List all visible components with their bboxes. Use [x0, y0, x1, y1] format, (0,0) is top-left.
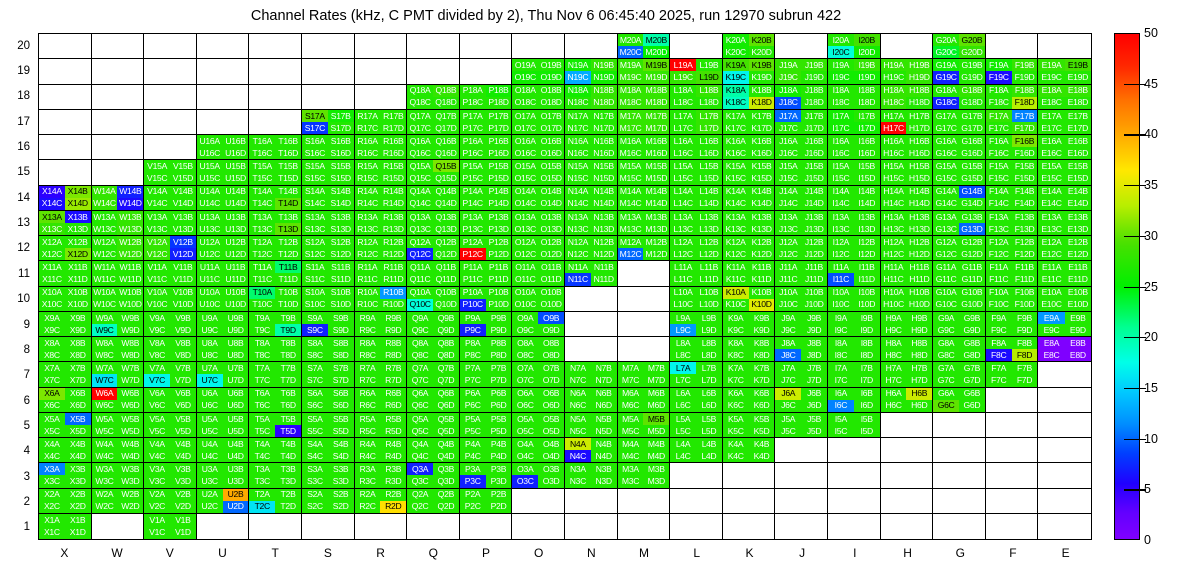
channel-label: E15A: [1042, 162, 1062, 171]
heatmap-module-cell: O16AO16BO16CO16D: [512, 135, 565, 160]
channel-label: W6D: [121, 401, 139, 410]
heatmap-channel-cell: W7B: [117, 362, 143, 374]
y-axis-label: 9: [24, 319, 30, 331]
heatmap-channel-cell: Q14C: [407, 198, 433, 210]
heatmap-module-cell: W4AW4BW4CW4D: [92, 438, 145, 463]
heatmap-channel-cell: I19B: [854, 59, 880, 71]
channel-label: L18C: [673, 98, 692, 107]
channel-label: Q17B: [436, 112, 457, 121]
channel-label: L9A: [676, 314, 690, 323]
channel-label: R6D: [385, 401, 401, 410]
heatmap-channel-cell: I6A: [828, 388, 854, 400]
channel-label: T4C: [255, 452, 270, 461]
heatmap-channel-cell: V6C: [144, 400, 170, 412]
heatmap-channel-cell: I14D: [854, 198, 880, 210]
channel-label: R13C: [357, 225, 378, 234]
heatmap-channel-cell: W14D: [117, 198, 143, 210]
heatmap-channel-cell: N12D: [591, 248, 617, 260]
channel-label: G17A: [936, 112, 957, 121]
channel-label: U5C: [202, 427, 218, 436]
channel-label: G11A: [936, 263, 956, 272]
channel-label: T5A: [255, 415, 270, 424]
channel-label: R9C: [359, 326, 375, 335]
heatmap-channel-cell: O17A: [512, 110, 538, 122]
heatmap-channel-cell: J6D: [801, 400, 827, 412]
channel-label: H17C: [883, 124, 904, 133]
heatmap-module-cell: [197, 514, 250, 539]
heatmap-channel-cell: S5A: [302, 413, 328, 425]
heatmap-channel-cell: L6C: [670, 400, 696, 412]
heatmap-channel-cell: H16B: [906, 135, 932, 147]
heatmap-channel-cell: F7B: [1012, 362, 1038, 374]
channel-label: U14B: [225, 187, 245, 196]
channel-label: I10C: [832, 300, 849, 309]
channel-label: Q9B: [438, 314, 454, 323]
heatmap-channel-cell: N7D: [591, 374, 617, 386]
heatmap-channel-cell: R3D: [380, 475, 406, 487]
heatmap-channel-cell: T15A: [249, 160, 275, 172]
channel-label: L4A: [676, 440, 690, 449]
heatmap-module-cell: Q7AQ7BQ7CQ7D: [407, 362, 460, 387]
heatmap-module-cell: L18AL18BL18CL18D: [670, 85, 723, 110]
channel-label: H12D: [909, 250, 930, 259]
heatmap-channel-cell: I15C: [828, 172, 854, 184]
heatmap-channel-cell: F13A: [986, 211, 1012, 223]
channel-label: K12C: [726, 250, 746, 259]
channel-label: X3A: [44, 465, 59, 474]
heatmap-channel-cell: K11C: [723, 273, 749, 285]
heatmap-channel-cell: F10B: [1012, 287, 1038, 299]
heatmap-channel-cell: X12D: [65, 248, 91, 260]
channel-label: H12A: [883, 238, 903, 247]
heatmap-channel-cell: Q10C: [407, 299, 433, 311]
heatmap-channel-cell: W14A: [92, 186, 118, 198]
heatmap-module-cell: I7AI7BI7CI7D: [828, 362, 881, 387]
channel-label: M12D: [645, 250, 667, 259]
channel-label: N6C: [570, 401, 586, 410]
heatmap-channel-cell: G17A: [933, 110, 959, 122]
heatmap-channel-cell: E11B: [1065, 261, 1091, 273]
channel-label: S14D: [331, 199, 351, 208]
heatmap-channel-cell: W4D: [117, 450, 143, 462]
channel-label: S9B: [333, 314, 348, 323]
channel-label: O12A: [515, 238, 536, 247]
channel-label: R8D: [385, 351, 401, 360]
heatmap-module-cell: M15AM15BM15CM15D: [618, 160, 671, 185]
heatmap-channel-cell: E9A: [1038, 312, 1064, 324]
heatmap-channel-cell: E9C: [1038, 324, 1064, 336]
channel-label: F9B: [1017, 314, 1032, 323]
heatmap-module-cell: S17AS17BS17CS17D: [302, 110, 355, 135]
heatmap-channel-cell: Q12C: [407, 248, 433, 260]
heatmap-channel-cell: K10B: [749, 287, 775, 299]
channel-label: F7D: [1017, 376, 1032, 385]
channel-label: L8D: [701, 351, 716, 360]
channel-label: G8C: [938, 351, 955, 360]
heatmap-module-cell: G19AG19BG19CG19D: [933, 59, 986, 84]
channel-label: J15D: [805, 174, 824, 183]
channel-label: U11B: [226, 263, 246, 272]
channel-label: P2C: [465, 502, 481, 511]
heatmap-module-cell: K18AK18BK18CK18D: [723, 85, 776, 110]
heatmap-channel-cell: N7B: [591, 362, 617, 374]
x-axis-label: E: [1039, 546, 1092, 566]
channel-label: V5A: [149, 415, 164, 424]
channel-label: I16B: [858, 137, 874, 146]
channel-label: T11A: [253, 263, 272, 272]
channel-label: P5A: [465, 415, 480, 424]
heatmap-module-cell: [407, 514, 460, 539]
channel-label: I8C: [835, 351, 847, 360]
channel-label: O14C: [515, 199, 536, 208]
channel-label: J12D: [805, 250, 824, 259]
channel-label: E15D: [1068, 174, 1088, 183]
heatmap-module-cell: [881, 463, 934, 488]
channel-label: S10D: [331, 300, 351, 309]
heatmap-module-cell: Q15AQ15BQ15CQ15D: [407, 160, 460, 185]
channel-label: L11B: [700, 263, 718, 272]
channel-label: E12C: [1041, 250, 1061, 259]
channel-label: N11C: [568, 275, 588, 284]
heatmap-channel-cell: L4B: [696, 438, 722, 450]
channel-label: S12C: [305, 250, 325, 259]
heatmap-module-cell: [355, 34, 408, 59]
heatmap-channel-cell: I15A: [828, 160, 854, 172]
heatmap-module-cell: [39, 59, 92, 84]
heatmap-channel-cell: J11B: [801, 261, 827, 273]
heatmap-channel-cell: K18B: [749, 85, 775, 97]
channel-label: O16C: [515, 149, 536, 158]
channel-label: H7C: [885, 376, 901, 385]
heatmap-channel-cell: U13A: [197, 211, 223, 223]
heatmap-channel-cell: M6C: [618, 400, 644, 412]
heatmap-module-cell: P8AP8BP8CP8D: [460, 337, 513, 362]
heatmap-channel-cell: T9C: [249, 324, 275, 336]
channel-label: G12B: [962, 238, 983, 247]
heatmap-channel-cell: H16D: [906, 147, 932, 159]
heatmap-channel-cell: F14D: [1012, 198, 1038, 210]
channel-label: U2B: [228, 490, 244, 499]
heatmap-channel-cell: X12B: [65, 236, 91, 248]
heatmap-channel-cell: P9B: [486, 312, 512, 324]
heatmap-channel-cell: J19B: [801, 59, 827, 71]
channel-label: N11B: [594, 263, 614, 272]
channel-label: S15D: [331, 174, 351, 183]
heatmap-channel-cell: W6B: [117, 388, 143, 400]
heatmap-channel-cell: I17B: [854, 110, 880, 122]
heatmap-channel-cell: Q16A: [407, 135, 433, 147]
channel-label: V12C: [147, 250, 167, 259]
channel-label: J12C: [779, 250, 798, 259]
heatmap-channel-cell: T4D: [275, 450, 301, 462]
heatmap-module-cell: Q4AQ4BQ4CQ4D: [407, 438, 460, 463]
heatmap-channel-cell: U3D: [223, 475, 249, 487]
heatmap-channel-cell: J15D: [801, 172, 827, 184]
heatmap-channel-cell: O19B: [538, 59, 564, 71]
channel-label: E12D: [1068, 250, 1088, 259]
heatmap-module-cell: [197, 85, 250, 110]
heatmap-module-cell: X4AX4BX4CX4D: [39, 438, 92, 463]
heatmap-module-cell: N13AN13BN13CN13D: [565, 211, 618, 236]
channel-label: T10A: [253, 288, 272, 297]
heatmap-channel-cell: G14D: [959, 198, 985, 210]
channel-label: R11B: [383, 263, 403, 272]
heatmap-channel-cell: N5A: [565, 413, 591, 425]
channel-label: N17D: [593, 124, 614, 133]
heatmap-channel-cell: M12A: [618, 236, 644, 248]
heatmap-channel-cell: F16C: [986, 147, 1012, 159]
heatmap-channel-cell: M18B: [643, 85, 669, 97]
heatmap-channel-cell: O14A: [512, 186, 538, 198]
channel-label: T13C: [252, 225, 272, 234]
channel-label: E18B: [1068, 86, 1088, 95]
heatmap-channel-cell: R17C: [355, 122, 381, 134]
heatmap-module-cell: Q3AQ3BQ3CQ3D: [407, 463, 460, 488]
heatmap-channel-cell: J16A: [775, 135, 801, 147]
heatmap-channel-cell: X2D: [65, 501, 91, 513]
heatmap-module-cell: K5AK5BK5CK5D: [723, 413, 776, 438]
channel-label: S3D: [333, 477, 349, 486]
channel-label: V14D: [173, 199, 193, 208]
heatmap-module-cell: P15AP15BP15CP15D: [460, 160, 513, 185]
channel-label: V3B: [175, 465, 190, 474]
channel-label: G17B: [962, 112, 983, 121]
channel-label: T2B: [281, 490, 296, 499]
heatmap-module-cell: X9AX9BX9CX9D: [39, 312, 92, 337]
channel-label: F12B: [1015, 238, 1034, 247]
channel-label: I14D: [858, 199, 875, 208]
channel-label: E19A: [1042, 61, 1062, 70]
heatmap-channel-cell: Q14B: [433, 186, 459, 198]
heatmap-channel-cell: N18B: [591, 85, 617, 97]
heatmap-channel-cell: E11D: [1065, 273, 1091, 285]
channel-label: K9A: [728, 314, 743, 323]
channel-label: P14B: [489, 187, 509, 196]
heatmap-channel-cell: F13D: [1012, 223, 1038, 235]
heatmap-channel-cell: G15D: [959, 172, 985, 184]
channel-label: F19B: [1015, 61, 1034, 70]
channel-label: G8D: [964, 351, 981, 360]
channel-label: P7C: [465, 376, 481, 385]
heatmap-channel-cell: M12D: [643, 248, 669, 260]
heatmap-channel-cell: T6B: [275, 388, 301, 400]
heatmap-channel-cell: P3D: [486, 475, 512, 487]
heatmap-channel-cell: R14C: [355, 198, 381, 210]
heatmap-channel-cell: R5B: [380, 413, 406, 425]
channel-label: R3C: [359, 477, 375, 486]
heatmap-channel-cell: U11C: [197, 273, 223, 285]
channel-label: R4A: [360, 440, 376, 449]
heatmap-channel-cell: X8A: [39, 337, 65, 349]
y-axis-label: 6: [24, 395, 30, 407]
heatmap-channel-cell: J6C: [775, 400, 801, 412]
heatmap-channel-cell: X2A: [39, 489, 65, 501]
heatmap-channel-cell: Q14D: [433, 198, 459, 210]
heatmap-channel-cell: X3B: [65, 463, 91, 475]
heatmap-module-cell: T8AT8BT8CT8D: [249, 337, 302, 362]
channel-label: M12B: [646, 238, 667, 247]
heatmap-channel-cell: S8D: [328, 349, 354, 361]
heatmap-channel-cell: J7B: [801, 362, 827, 374]
channel-label: P3C: [465, 477, 481, 486]
channel-label: X6C: [44, 401, 60, 410]
heatmap-channel-cell: M20D: [643, 46, 669, 58]
heatmap-channel-cell: L11C: [670, 273, 696, 285]
heatmap-channel-cell: W13B: [117, 211, 143, 223]
heatmap-channel-cell: N4C: [565, 450, 591, 462]
channel-label: E14D: [1068, 199, 1088, 208]
channel-label: F7B: [1017, 364, 1032, 373]
heatmap-channel-cell: U8D: [223, 349, 249, 361]
heatmap-channel-cell: M7D: [643, 374, 669, 386]
heatmap-module-cell: [775, 463, 828, 488]
heatmap-channel-cell: S2C: [302, 501, 328, 513]
heatmap-module-cell: N18AN18BN18CN18D: [565, 85, 618, 110]
heatmap-channel-cell: T9D: [275, 324, 301, 336]
heatmap-channel-cell: K14B: [749, 186, 775, 198]
heatmap-channel-cell: X1D: [65, 526, 91, 539]
heatmap-channel-cell: P9C: [460, 324, 486, 336]
heatmap-channel-cell: K15B: [749, 160, 775, 172]
channel-label: O9B: [543, 314, 559, 323]
heatmap-channel-cell: K6B: [749, 388, 775, 400]
heatmap-channel-cell: N17C: [565, 122, 591, 134]
channel-label: I16C: [832, 149, 849, 158]
channel-label: L10C: [673, 300, 692, 309]
heatmap-channel-cell: L15A: [670, 160, 696, 172]
heatmap-channel-cell: F17A: [986, 110, 1012, 122]
channel-label: S15C: [305, 174, 325, 183]
heatmap-channel-cell: O19D: [538, 71, 564, 83]
heatmap-module-cell: U15AU15BU15CU15D: [197, 160, 250, 185]
heatmap-channel-cell: S17A: [302, 110, 328, 122]
channel-label: H16D: [909, 149, 930, 158]
channel-label: Q2C: [412, 502, 429, 511]
heatmap-channel-cell: R16B: [380, 135, 406, 147]
heatmap-module-cell: W8AW8BW8CW8D: [92, 337, 145, 362]
heatmap-channel-cell: P3C: [460, 475, 486, 487]
heatmap-module-cell: J8AJ8BJ8CJ8D: [775, 337, 828, 362]
heatmap-channel-cell: J6B: [801, 388, 827, 400]
heatmap-channel-cell: X5A: [39, 413, 65, 425]
channel-label: Q18B: [436, 86, 457, 95]
heatmap-module-cell: N17AN17BN17CN17D: [565, 110, 618, 135]
heatmap-module-cell: N5AN5BN5CN5D: [565, 413, 618, 438]
heatmap-channel-cell: H13D: [906, 223, 932, 235]
heatmap-module-cell: M5AM5BM5CM5D: [618, 413, 671, 438]
heatmap-module-cell: S5AS5BS5CS5D: [302, 413, 355, 438]
channel-label: T12A: [253, 238, 272, 247]
channel-label: R17C: [357, 124, 378, 133]
heatmap-channel-cell: Q13B: [433, 211, 459, 223]
channel-label: J18A: [779, 86, 797, 95]
heatmap-channel-cell: I18A: [828, 85, 854, 97]
heatmap-channel-cell: J5A: [775, 413, 801, 425]
heatmap-channel-cell: T4B: [275, 438, 301, 450]
channel-label: L15C: [673, 174, 692, 183]
heatmap-module-cell: U7AU7BU7CU7D: [197, 362, 250, 387]
heatmap-channel-cell: L4D: [696, 450, 722, 462]
heatmap-channel-cell: I15B: [854, 160, 880, 172]
heatmap-channel-cell: L8D: [696, 349, 722, 361]
heatmap-channel-cell: G20C: [933, 46, 959, 58]
heatmap-module-cell: F9AF9BF9CF9D: [986, 312, 1039, 337]
channel-label: W5A: [96, 415, 114, 424]
channel-label: G13D: [961, 225, 982, 234]
heatmap-channel-cell: E16A: [1038, 135, 1064, 147]
heatmap-module-cell: K20AK20BK20CK20D: [723, 34, 776, 59]
channel-label: J15A: [779, 162, 797, 171]
heatmap-channel-cell: M3A: [618, 463, 644, 475]
channel-label: O9D: [543, 326, 560, 335]
channel-label: L19B: [699, 61, 718, 70]
heatmap-module-cell: X14AX14BX14CX14D: [39, 186, 92, 211]
channel-label: I12D: [858, 250, 875, 259]
heatmap-channel-cell: F8D: [1012, 349, 1038, 361]
heatmap-channel-cell: I7C: [828, 374, 854, 386]
channel-label: S10A: [305, 288, 325, 297]
channel-label: S9C: [307, 326, 323, 335]
channel-label: S8B: [333, 339, 348, 348]
heatmap-channel-cell: X4D: [65, 450, 91, 462]
heatmap-channel-cell: V15B: [170, 160, 196, 172]
heatmap-module-cell: S13AS13BS13CS13D: [302, 211, 355, 236]
channel-label: N11D: [594, 275, 614, 284]
heatmap-module-cell: W13AW13BW13CW13D: [92, 211, 145, 236]
channel-label: K12D: [751, 250, 771, 259]
channel-label: N3A: [570, 465, 586, 474]
channel-label: O18A: [515, 86, 536, 95]
heatmap-channel-cell: E16B: [1065, 135, 1091, 147]
channel-label: X13A: [42, 213, 62, 222]
heatmap-channel-cell: V14B: [170, 186, 196, 198]
channel-label: O3C: [517, 477, 534, 486]
heatmap-module-cell: N3AN3BN3CN3D: [565, 463, 618, 488]
heatmap-channel-cell: T3D: [275, 475, 301, 487]
heatmap-channel-cell: L7A: [670, 362, 696, 374]
heatmap-channel-cell: L12C: [670, 248, 696, 260]
channel-label: J16B: [805, 137, 823, 146]
channel-label: U13A: [200, 213, 220, 222]
heatmap-channel-cell: I11B: [854, 261, 880, 273]
channel-label: J19A: [779, 61, 797, 70]
channel-label: S17A: [305, 112, 325, 121]
heatmap-channel-cell: E17B: [1065, 110, 1091, 122]
heatmap-channel-cell: S2D: [328, 501, 354, 513]
channel-label: N6A: [570, 389, 586, 398]
heatmap-channel-cell: P14B: [486, 186, 512, 198]
heatmap-channel-cell: Q6D: [433, 400, 459, 412]
heatmap-channel-cell: R10C: [355, 299, 381, 311]
channel-label: N6D: [596, 401, 612, 410]
channel-label: N5C: [570, 427, 586, 436]
heatmap-channel-cell: Q18A: [407, 85, 433, 97]
heatmap-module-cell: [723, 514, 776, 539]
heatmap-channel-cell: J8A: [775, 337, 801, 349]
heatmap-channel-cell: R15C: [355, 172, 381, 184]
channel-label: P16D: [488, 149, 508, 158]
heatmap-module-cell: G13AG13BG13CG13D: [933, 211, 986, 236]
heatmap-channel-cell: T12C: [249, 248, 275, 260]
heatmap-channel-cell: R6D: [380, 400, 406, 412]
heatmap-channel-cell: Q8B: [433, 337, 459, 349]
heatmap-channel-cell: P18A: [460, 85, 486, 97]
channel-label: X2A: [44, 490, 59, 499]
heatmap-channel-cell: W6D: [117, 400, 143, 412]
channel-label: Q13D: [435, 225, 456, 234]
heatmap-channel-cell: G8C: [933, 349, 959, 361]
channel-label: X7C: [44, 376, 60, 385]
